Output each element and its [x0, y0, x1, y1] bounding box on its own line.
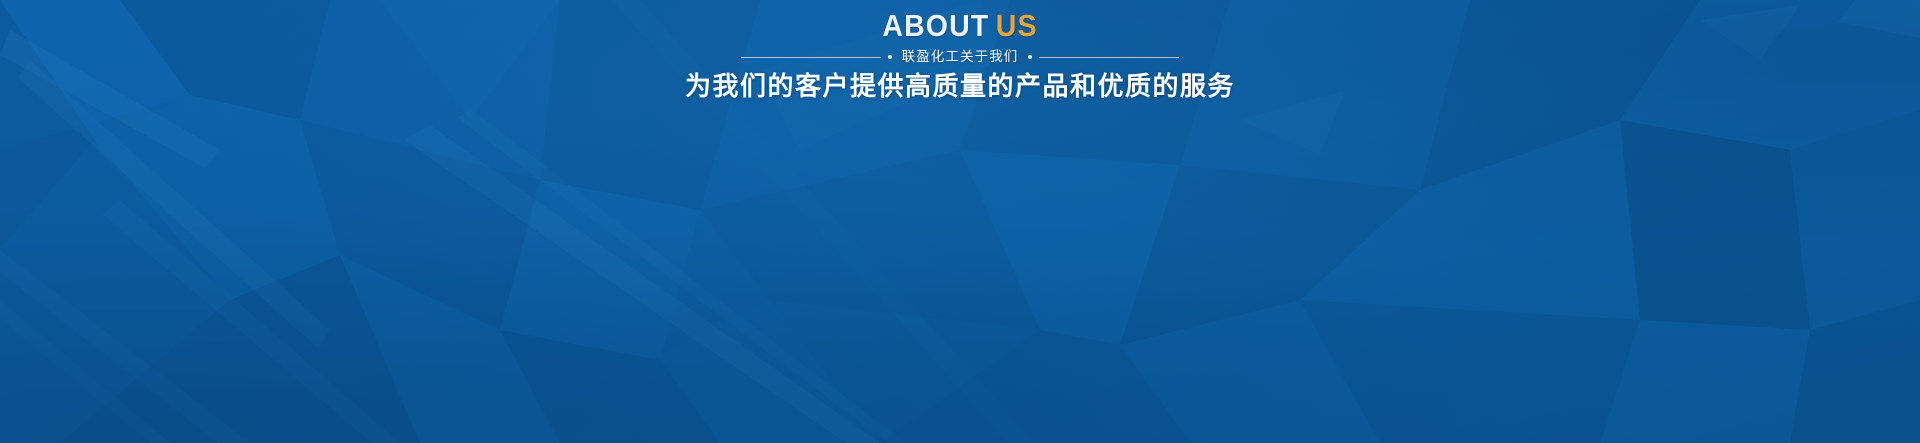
banner-content: ABOUTUS 联盈化工关于我们 为我们的客户提供高质量的产品和优质的服务 [0, 0, 1920, 102]
divider-dot-left-icon [888, 55, 892, 59]
subtitle-divider-row: 联盈化工关于我们 [0, 48, 1920, 66]
page-headline: 为我们的客户提供高质量的产品和优质的服务 [0, 66, 1920, 102]
divider-dot-right-icon [1028, 55, 1032, 59]
about-us-banner: ABOUTUS 联盈化工关于我们 为我们的客户提供高质量的产品和优质的服务 [0, 0, 1920, 443]
page-subtitle: 联盈化工关于我们 [899, 48, 1022, 66]
page-eyebrow-title: ABOUTUS [77, 0, 1843, 43]
divider-rule-left-icon [741, 57, 881, 58]
eyebrow-word-us: US [996, 8, 1038, 43]
eyebrow-word-about: ABOUT [882, 8, 989, 43]
divider-rule-right-icon [1039, 57, 1179, 58]
